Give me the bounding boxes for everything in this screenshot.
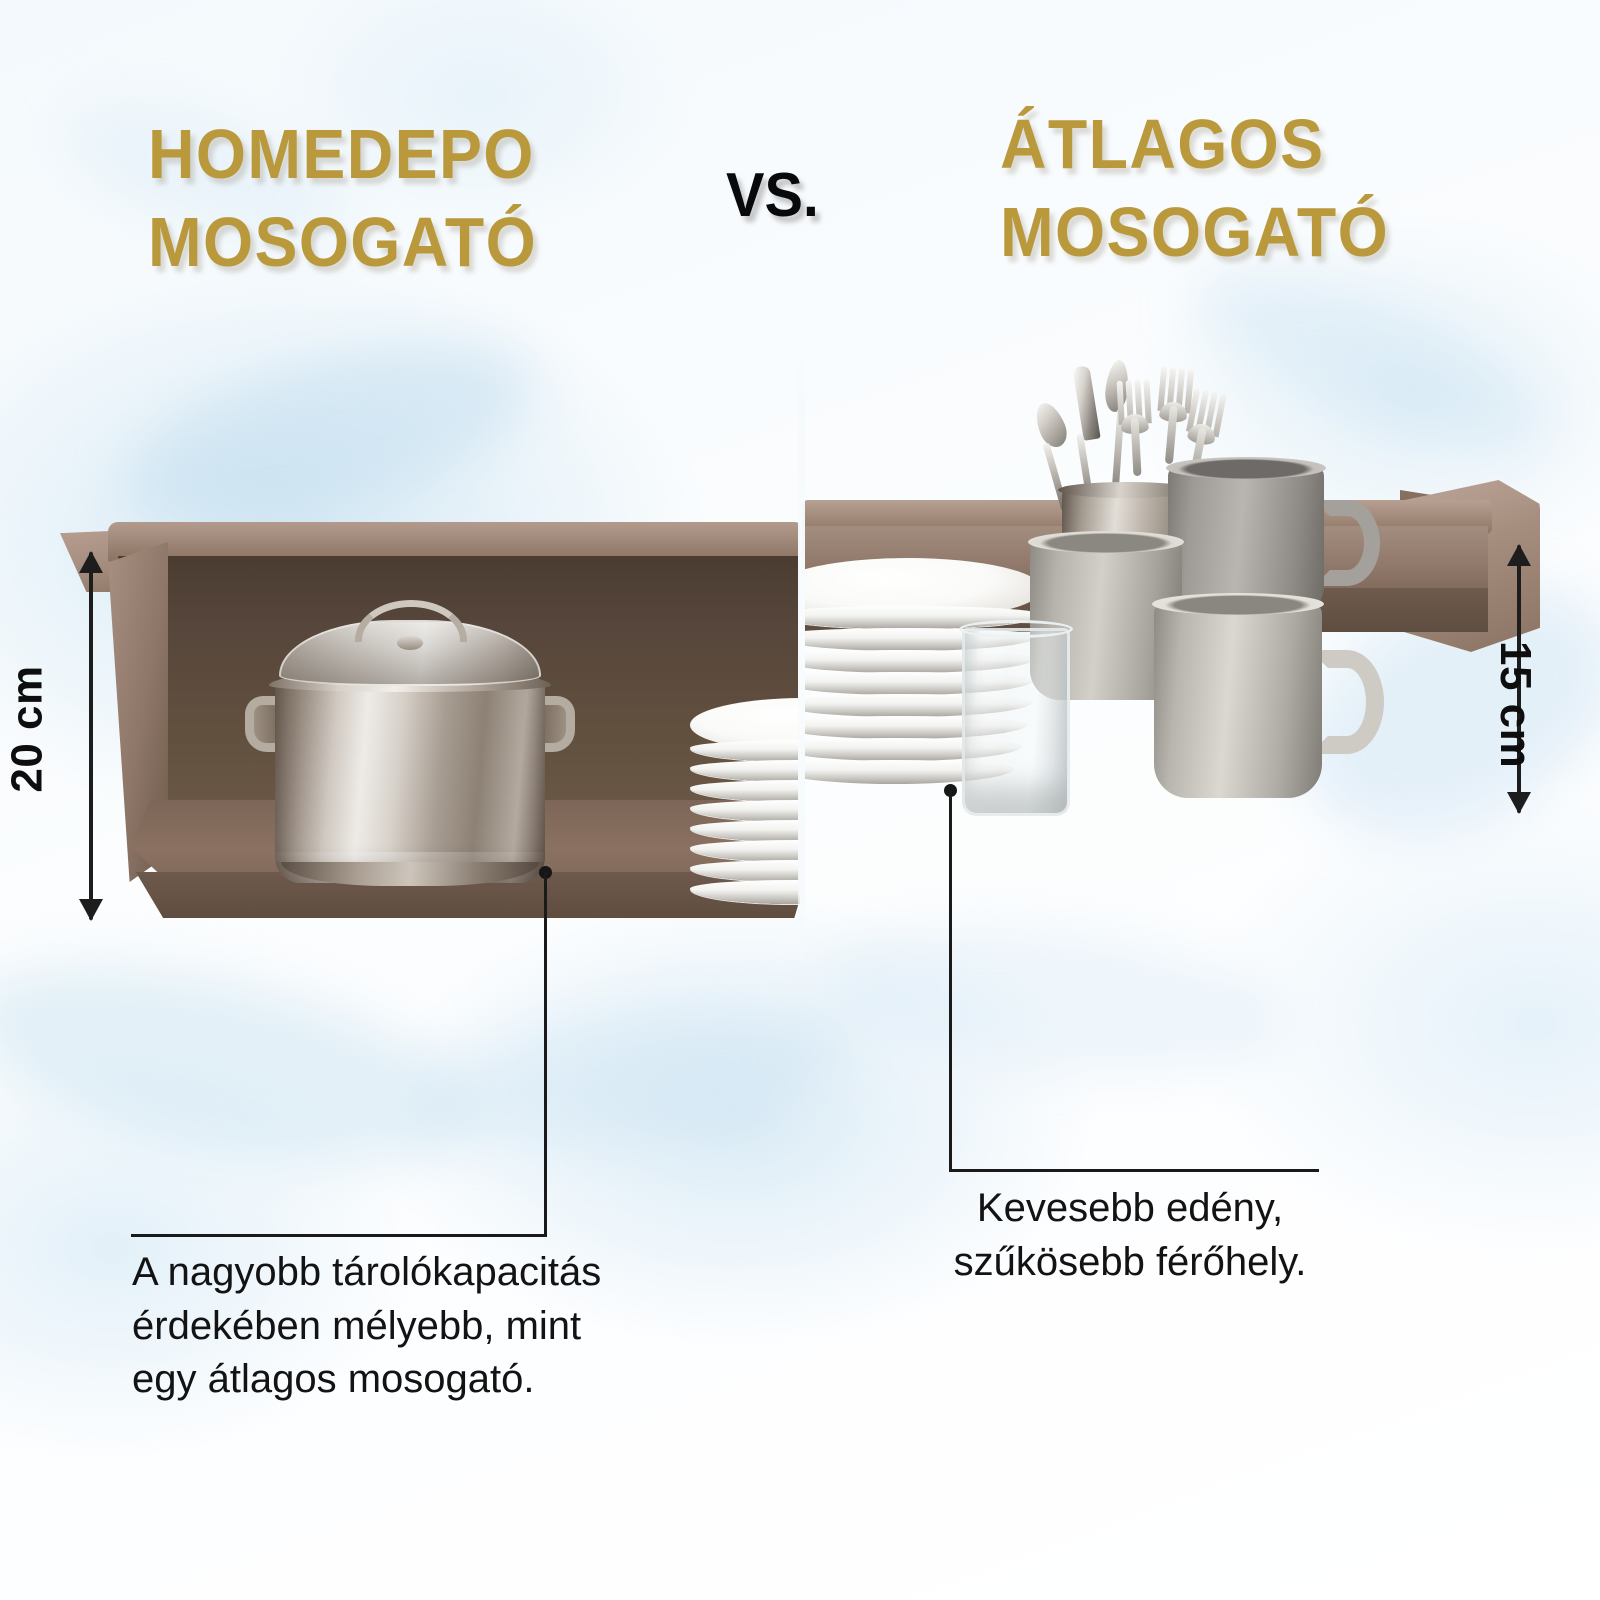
photo-split-seam bbox=[798, 330, 805, 970]
arrow-down-icon bbox=[79, 899, 103, 921]
drinking-glass bbox=[962, 628, 1070, 816]
versus-label: VS. bbox=[726, 160, 819, 231]
dimension-label-right: 15 cm bbox=[1490, 641, 1540, 768]
pot-band bbox=[275, 852, 545, 862]
right-sink-photo bbox=[802, 340, 1540, 970]
dimension-label-left: 20 cm bbox=[3, 665, 53, 792]
dimension-line bbox=[89, 552, 93, 920]
caption-right: Kevesebb edény, szűkösebb férőhely. bbox=[920, 1182, 1340, 1289]
arrow-down-icon bbox=[1507, 792, 1531, 814]
fork-icon bbox=[1116, 379, 1155, 477]
left-sink-photo bbox=[60, 500, 800, 970]
knife-icon bbox=[1072, 365, 1100, 441]
dimension-arrow-left: 20 cm bbox=[76, 552, 106, 920]
dimension-arrow-right: 15 cm bbox=[1504, 545, 1534, 813]
arrow-up-icon bbox=[79, 551, 103, 573]
plate-stack-left bbox=[690, 698, 800, 908]
page-title-right: ÁTLAGOS MOSOGATÓ bbox=[1000, 100, 1389, 276]
pot-lid-knob bbox=[397, 636, 423, 650]
product-comparison-photos bbox=[0, 330, 1600, 970]
page-title-left: HOMEDEPO MOSOGATÓ bbox=[148, 110, 537, 286]
grey-mug-front bbox=[1154, 602, 1322, 798]
spoon-icon bbox=[1030, 399, 1071, 451]
stainless-stockpot bbox=[245, 600, 575, 890]
comparison-poster: HOMEDEPO MOSOGATÓ VS. ÁTLAGOS MOSOGATÓ bbox=[0, 0, 1600, 1600]
caption-left: A nagyobb tárolókapacitás érdekében mély… bbox=[132, 1246, 692, 1407]
arrow-up-icon bbox=[1507, 544, 1531, 566]
marble-vein bbox=[413, 981, 857, 1170]
